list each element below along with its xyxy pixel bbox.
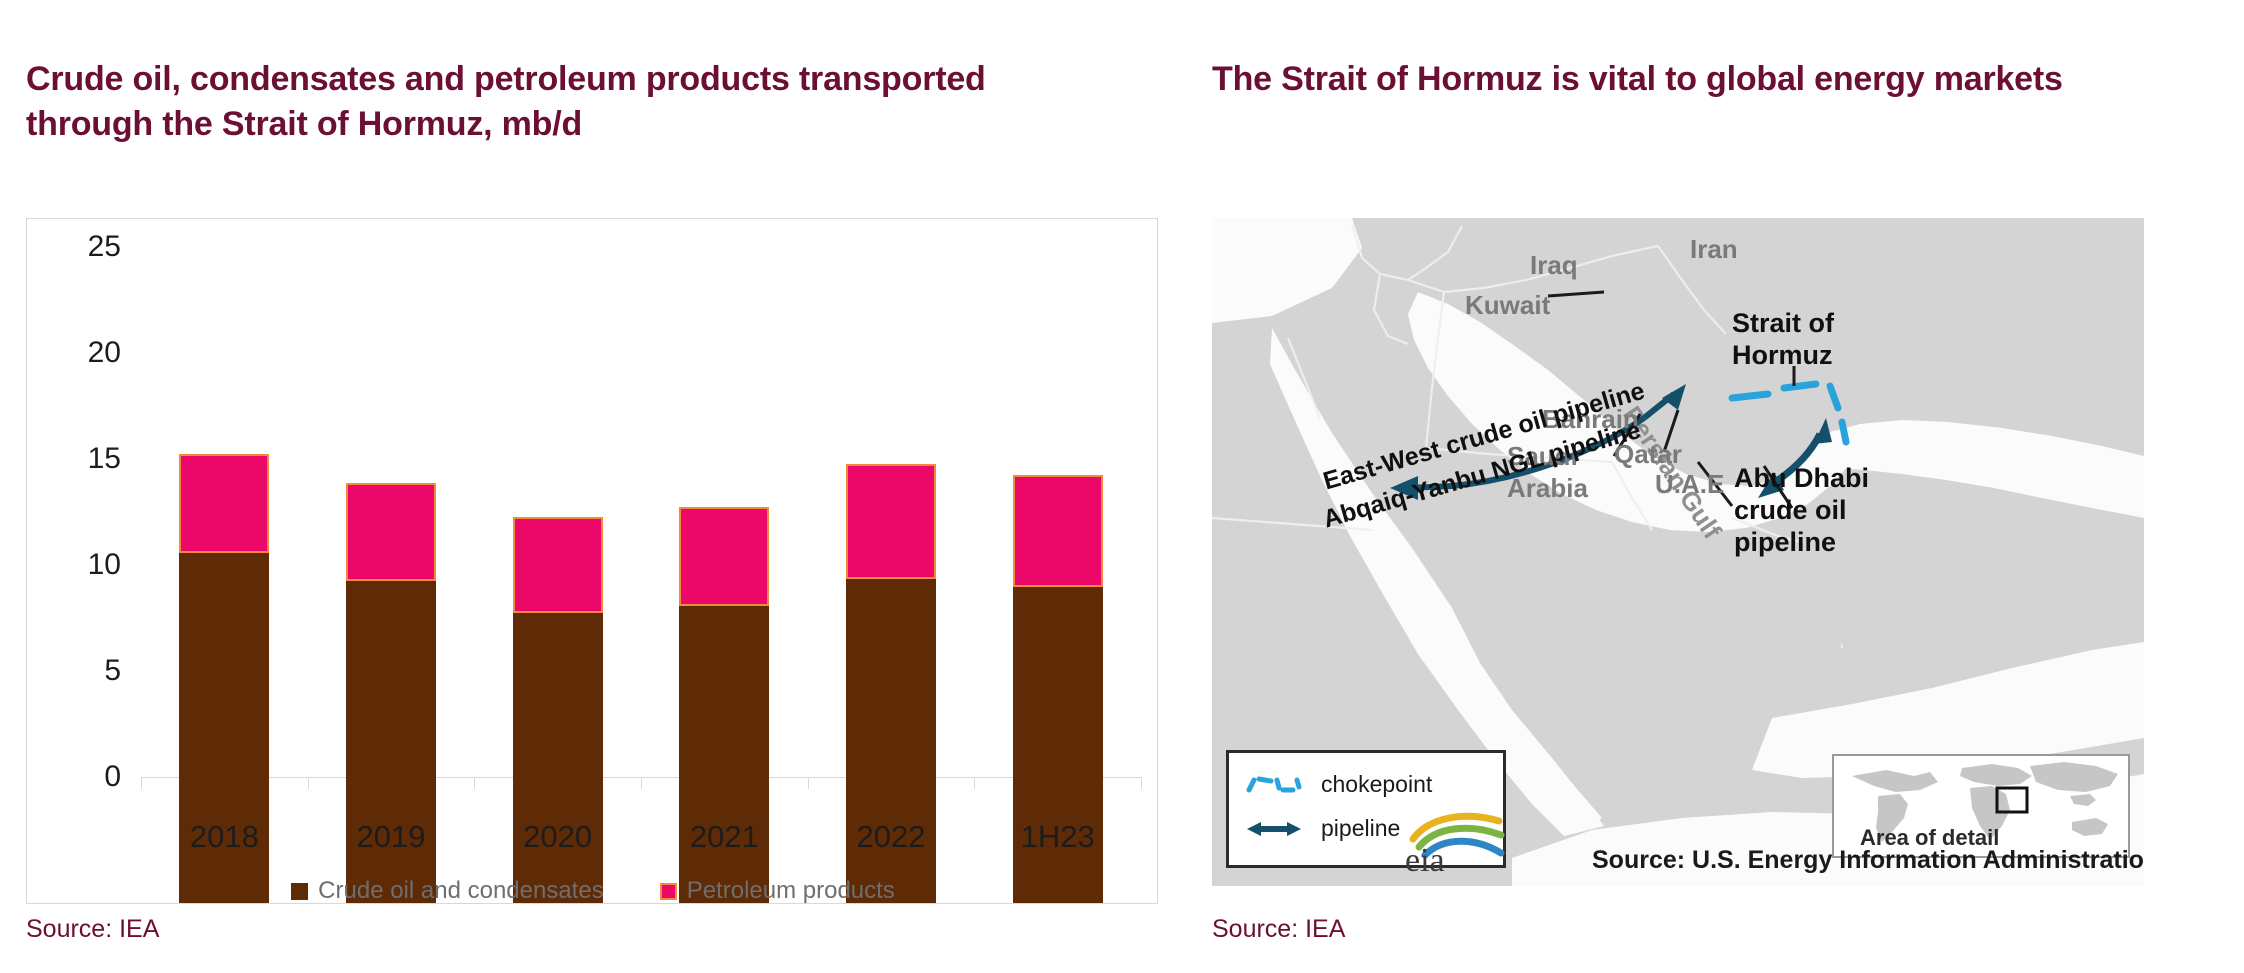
x-tick-label: 2022 — [801, 819, 981, 855]
bar-segment-products[interactable] — [846, 464, 936, 578]
y-tick-label: 0 — [61, 760, 121, 794]
map-legend-row-chokepoint: chokepoint — [1245, 771, 1432, 798]
y-tick-label: 25 — [61, 230, 121, 264]
map-title: The Strait of Hormuz is vital to global … — [1212, 57, 2132, 102]
bar-segment-products[interactable] — [513, 517, 603, 612]
legend-swatch-products-icon — [660, 883, 677, 900]
eia-logo-icon: eia — [1399, 811, 1509, 875]
map-legend-box: chokepoint pipeline eia — [1226, 750, 1506, 868]
x-tick-label: 1H23 — [968, 819, 1148, 855]
map-legend-row-pipeline: pipeline — [1245, 815, 1400, 842]
map-legend-label-pipeline: pipeline — [1321, 815, 1400, 842]
map-attribution: Source: U.S. Energy Information Administ… — [1592, 846, 2144, 875]
legend-label-crude: Crude oil and condensates — [318, 877, 604, 905]
legend-swatch-crude-icon — [291, 883, 308, 900]
y-tick-label: 20 — [61, 336, 121, 370]
chart-panel: Crude oil, condensates and petroleum pro… — [0, 0, 1200, 973]
map-annotation-label: crude oil — [1734, 495, 1847, 527]
bar-segment-crude[interactable] — [513, 613, 603, 903]
chart-source-note: Source: IEA — [26, 915, 159, 944]
map-annotation-label: Hormuz — [1732, 340, 1833, 372]
x-tick-label: 2018 — [134, 819, 314, 855]
y-tick-label: 5 — [61, 654, 121, 688]
map-country-label: Iran — [1690, 234, 1738, 265]
bar-segment-products[interactable] — [1013, 475, 1103, 587]
map-figure: Persian Gulf — [1212, 218, 2144, 886]
svg-text:eia: eia — [1405, 842, 1445, 875]
map-annotation-label: Abu Dhabi — [1734, 463, 1869, 495]
map-inset-world: Area of detail — [1832, 754, 2130, 858]
map-legend-label-chokepoint: chokepoint — [1321, 771, 1432, 798]
map-country-label: Iraq — [1530, 250, 1578, 281]
chart-plot-frame: 0510152025 201820192020202120221H23 Crud… — [26, 218, 1158, 904]
bar-segment-crude[interactable] — [679, 606, 769, 903]
x-tick-label: 2020 — [468, 819, 648, 855]
map-annotation-label: pipeline — [1734, 527, 1836, 559]
chart-title: Crude oil, condensates and petroleum pro… — [26, 57, 1056, 147]
pipeline-icon — [1245, 818, 1303, 840]
chokepoint-icon — [1245, 774, 1303, 796]
legend-item-crude[interactable]: Crude oil and condensates — [291, 877, 604, 905]
bar-segment-products[interactable] — [346, 483, 436, 581]
y-tick-label: 15 — [61, 442, 121, 476]
chart-legend: Crude oil and condensates Petroleum prod… — [27, 877, 1159, 905]
bar-segment-products[interactable] — [679, 507, 769, 607]
map-country-label: Kuwait — [1465, 290, 1550, 321]
legend-item-products[interactable]: Petroleum products — [660, 877, 895, 905]
map-panel: The Strait of Hormuz is vital to global … — [1200, 0, 2244, 973]
bar-segment-products[interactable] — [179, 454, 269, 554]
bar-segment-crude[interactable] — [1013, 587, 1103, 903]
x-tick-mark — [1141, 777, 1142, 789]
map-source-note: Source: IEA — [1212, 915, 1345, 944]
x-tick-label: 2021 — [634, 819, 814, 855]
map-annotation-label: Strait of — [1732, 308, 1834, 340]
legend-label-products: Petroleum products — [687, 877, 895, 905]
figure-root: Crude oil, condensates and petroleum pro… — [0, 0, 2244, 973]
map-country-label: U.A.E — [1655, 469, 1724, 500]
x-tick-label: 2019 — [301, 819, 481, 855]
y-tick-label: 10 — [61, 548, 121, 582]
